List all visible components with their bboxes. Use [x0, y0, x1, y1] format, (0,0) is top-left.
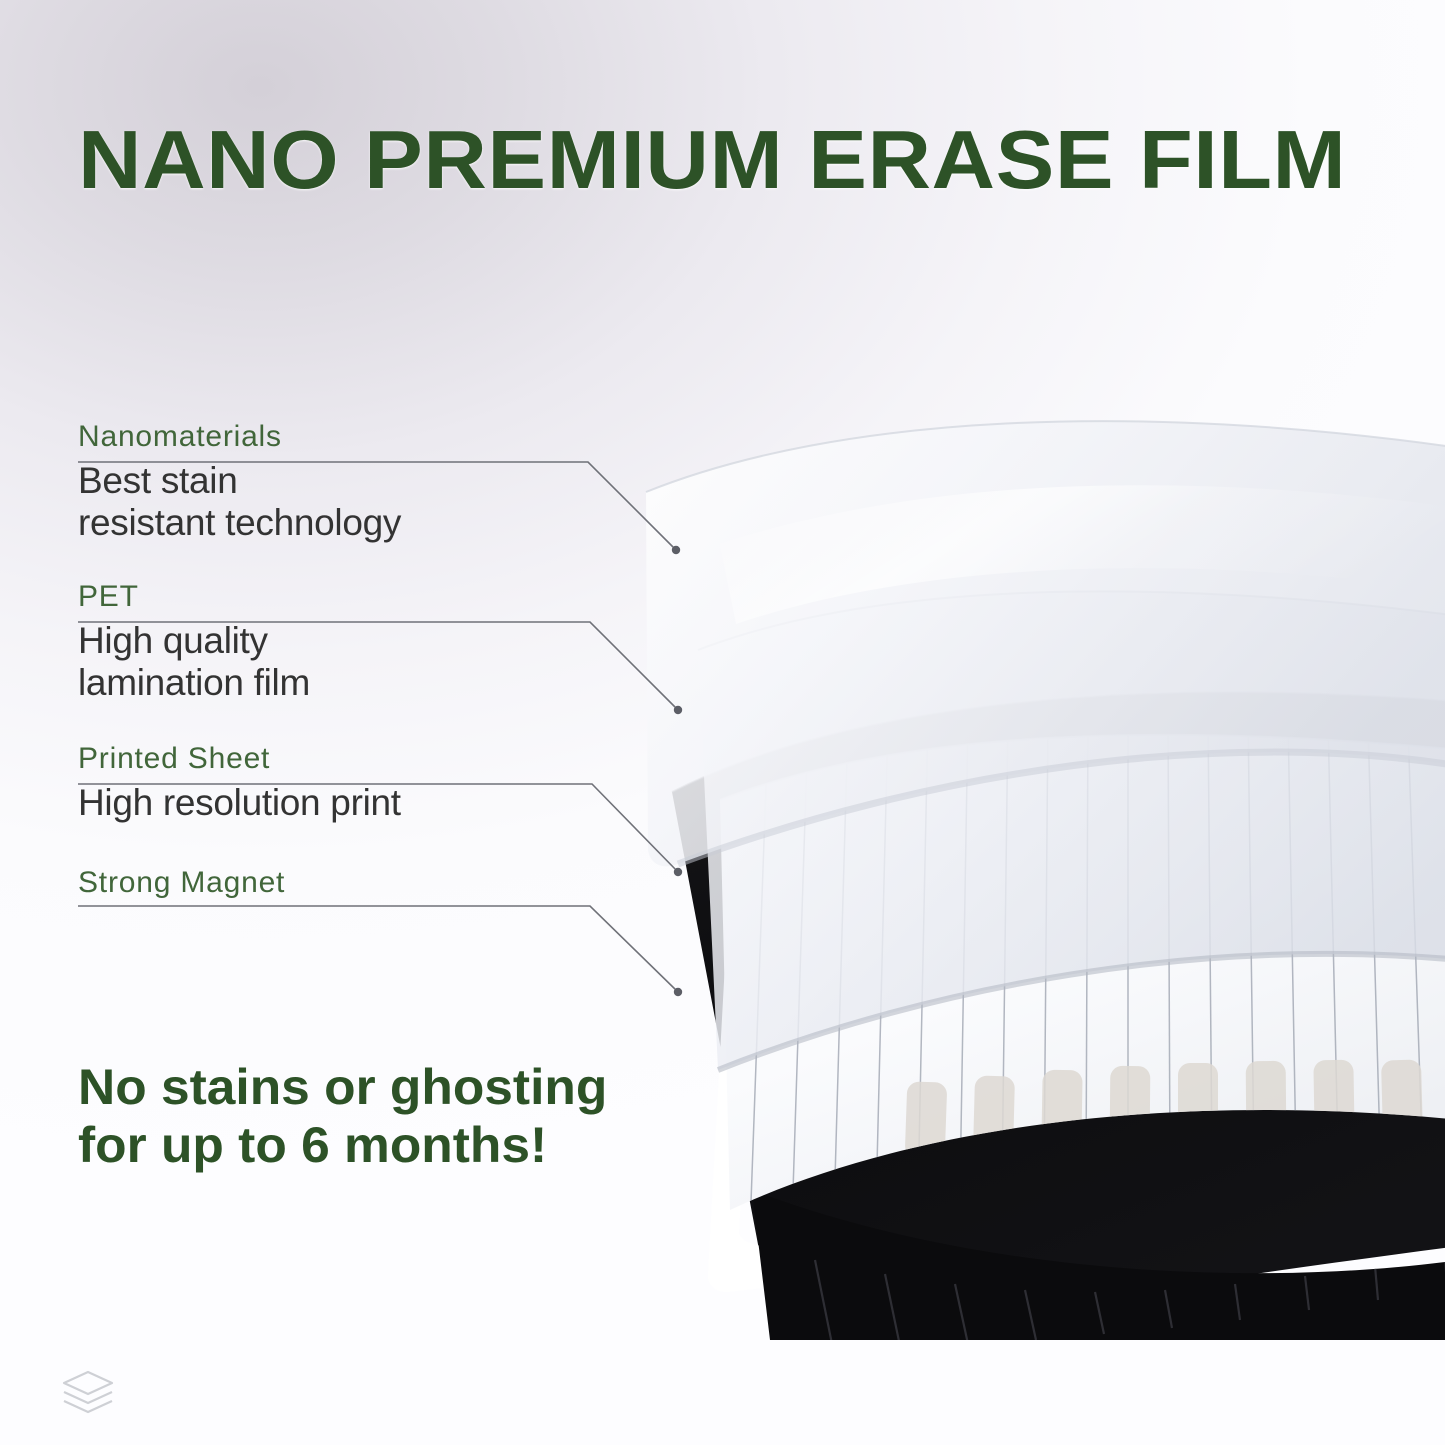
product-illustration [600, 330, 1445, 1340]
callout-desc-printed-sheet: High resolution print [78, 782, 678, 824]
page-title: NANO PREMIUM ERASE FILM [78, 112, 1445, 208]
callout-pet: PET High quality lamination film [78, 580, 678, 704]
callout-label-nanomaterials: Nanomaterials [78, 420, 678, 454]
callout-desc-nanomaterials: Best stain resistant technology [78, 460, 678, 544]
callout-desc-pet: High quality lamination film [78, 620, 678, 704]
callout-nanomaterials: Nanomaterials Best stain resistant techn… [78, 420, 678, 544]
infographic-canvas: NANO PREMIUM ERASE FILM [0, 0, 1445, 1445]
callout-strong-magnet: Strong Magnet [78, 866, 678, 900]
leader-line-3 [78, 906, 678, 992]
callout-label-pet: PET [78, 580, 678, 614]
layers-icon [60, 1368, 116, 1420]
tagline: No stains or ghosting for up to 6 months… [78, 1058, 717, 1174]
callout-printed-sheet: Printed Sheet High resolution print [78, 742, 678, 824]
callout-label-strong-magnet: Strong Magnet [78, 866, 678, 900]
callout-label-printed-sheet: Printed Sheet [78, 742, 678, 776]
